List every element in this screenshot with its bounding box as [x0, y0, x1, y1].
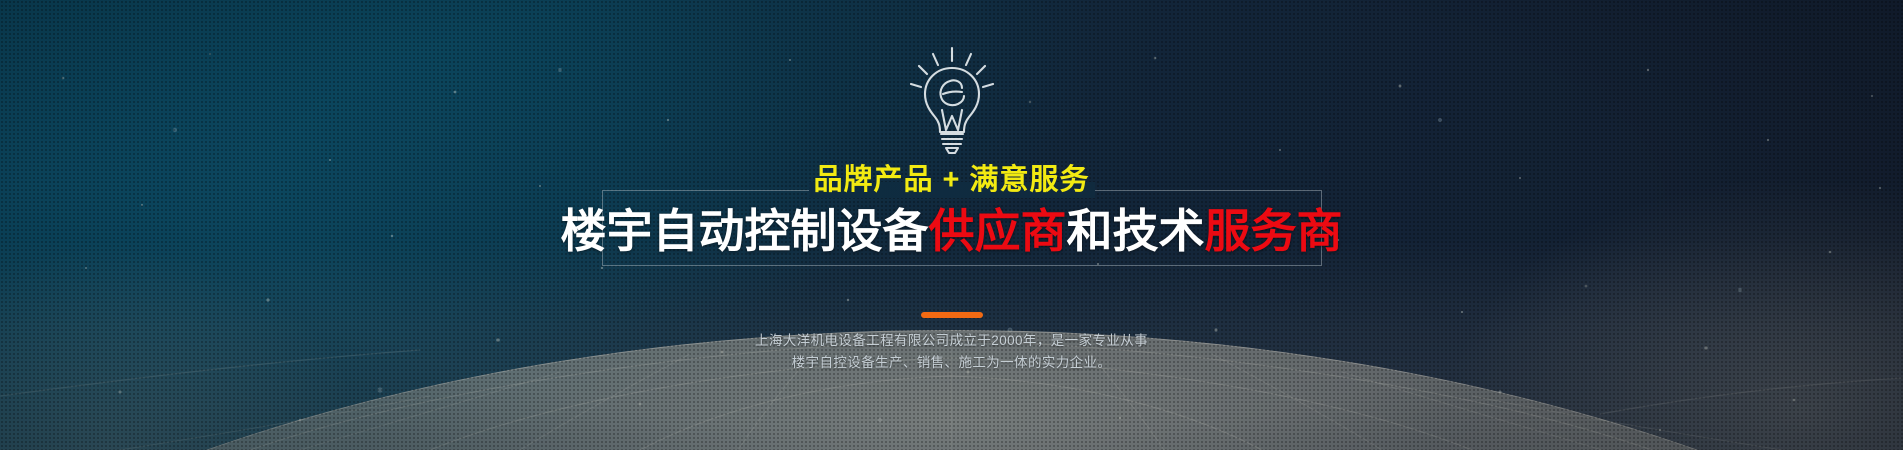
- description-line-1: 上海大洋机电设备工程有限公司成立于2000年，是一家专业从事: [0, 330, 1903, 352]
- banner-content: 品牌产品 + 满意服务 楼宇自动控制设备供应商和技术服务商 上海大洋机电设备工程…: [0, 0, 1903, 450]
- lightbulb-idea-icon: [900, 44, 1004, 156]
- hero-banner: 品牌产品 + 满意服务 楼宇自动控制设备供应商和技术服务商 上海大洋机电设备工程…: [0, 0, 1903, 450]
- orange-divider: [921, 312, 983, 318]
- page-title: 楼宇自动控制设备供应商和技术服务商: [547, 200, 1357, 262]
- headline-part-2: 和技术: [1067, 205, 1205, 257]
- headline-part-1: 楼宇自动控制设备: [561, 205, 929, 257]
- headline-row: 楼宇自动控制设备供应商和技术服务商: [0, 200, 1903, 262]
- kicker-row: 品牌产品 + 满意服务: [0, 160, 1903, 200]
- headline-highlight-supplier: 供应商: [929, 205, 1067, 257]
- kicker-text: 品牌产品 + 满意服务: [791, 160, 1111, 200]
- description-line-2: 楼宇自控设备生产、销售、施工为一体的实力企业。: [0, 352, 1903, 374]
- description-block: 上海大洋机电设备工程有限公司成立于2000年，是一家专业从事 楼宇自控设备生产、…: [0, 330, 1903, 374]
- headline-highlight-service: 服务商: [1205, 205, 1343, 257]
